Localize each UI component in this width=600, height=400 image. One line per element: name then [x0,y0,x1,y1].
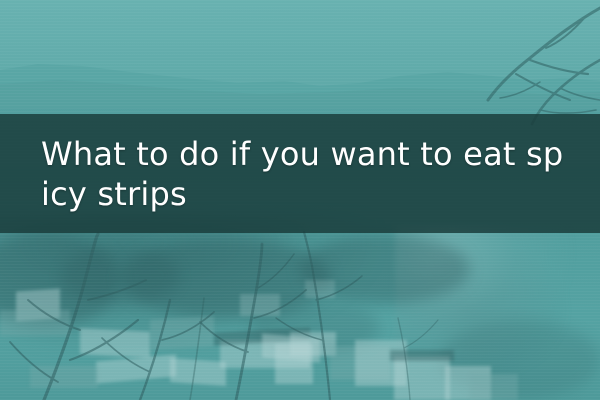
page-title: What to do if you want to eat spicy stri… [41,134,571,214]
title-overlay-band: What to do if you want to eat spicy stri… [0,114,600,233]
article-hero-banner: What to do if you want to eat spicy stri… [0,0,600,400]
